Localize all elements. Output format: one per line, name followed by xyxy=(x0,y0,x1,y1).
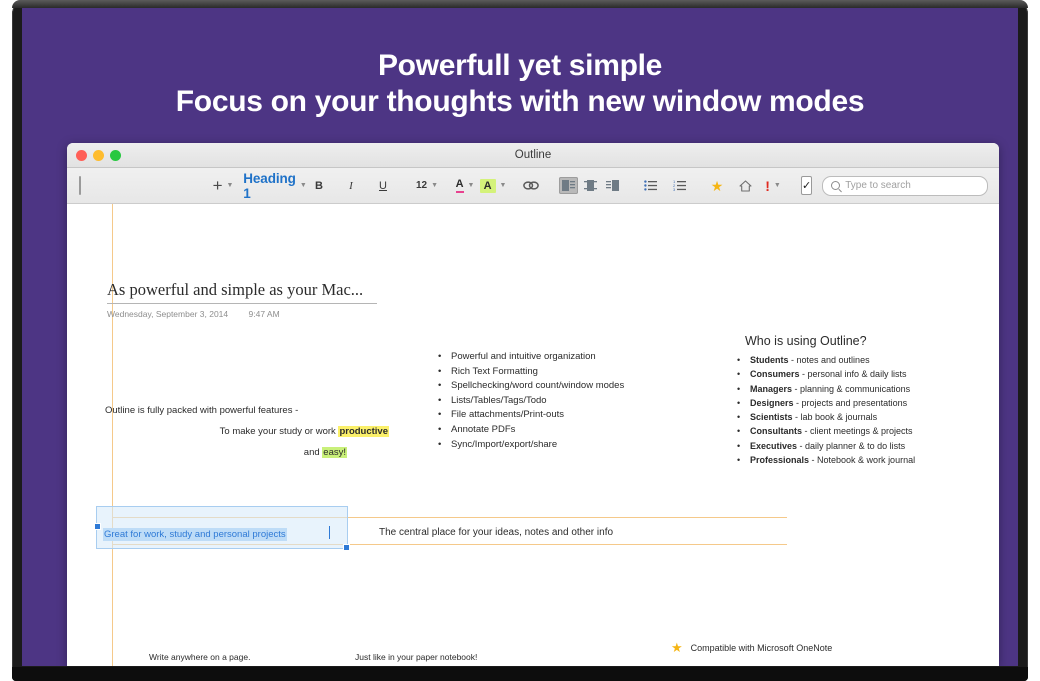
chevron-down-icon[interactable]: ▼ xyxy=(774,182,781,189)
list-item: Managers - planning & communications xyxy=(750,382,915,396)
star-icon: ★ xyxy=(671,641,683,654)
formatting-toolbar: + ▼ Heading 1 ▼ B I xyxy=(67,168,999,204)
text-color-button[interactable]: A ▼ xyxy=(455,176,475,196)
chevron-down-icon[interactable]: ▼ xyxy=(431,182,438,189)
window-title: Outline xyxy=(67,143,999,167)
document-meta: Wednesday, September 3, 2014 9:47 AM xyxy=(107,309,280,319)
laptop-frame: Powerfull yet simple Focus on your thoug… xyxy=(12,0,1028,681)
list-item: Spellchecking/word count/window modes xyxy=(451,379,624,394)
text-caret xyxy=(329,526,330,539)
home-flag-button[interactable] xyxy=(735,176,755,196)
who-is-using-list[interactable]: Students - notes and outlines Consumers … xyxy=(732,353,915,467)
window-titlebar: Outline xyxy=(67,143,999,168)
list-item: Consumers - personal info & daily lists xyxy=(750,367,915,381)
highlight-color-label: A xyxy=(480,179,496,193)
sidebar-toggle-panel xyxy=(80,177,81,194)
screenshot-root: Powerfull yet simple Focus on your thoug… xyxy=(0,0,1040,681)
who-desc: - lab book & journals xyxy=(793,412,878,422)
list-item: Executives - daily planner & to do lists xyxy=(750,439,915,453)
bold-button[interactable]: B xyxy=(309,176,329,196)
insert-link-button[interactable] xyxy=(521,176,541,196)
bold-label: B xyxy=(315,180,323,192)
numbered-list-button[interactable]: 1 2 3 xyxy=(669,176,689,196)
document-date: Wednesday, September 3, 2014 xyxy=(107,309,228,319)
font-size-label: 12 xyxy=(416,180,427,191)
who-role: Consultants xyxy=(750,426,802,436)
chevron-down-icon[interactable]: ▼ xyxy=(227,182,234,189)
who-is-using-heading: Who is using Outline? xyxy=(745,334,867,348)
intro-highlight-easy: easy! xyxy=(322,447,347,458)
todo-checkbox-button[interactable]: ✓ xyxy=(801,176,812,195)
intro-highlight-productive: productive xyxy=(338,426,389,437)
note-onenote-label: Compatible with Microsoft OneNote xyxy=(691,643,833,653)
who-desc: - client meetings & projects xyxy=(802,426,913,436)
who-role: Designers xyxy=(750,398,794,408)
list-item: Lists/Tables/Tags/Todo xyxy=(451,394,624,409)
laptop-top-edge xyxy=(12,0,1028,8)
svg-text:3: 3 xyxy=(673,187,676,191)
bullet-list-button[interactable] xyxy=(640,176,660,196)
who-desc: - Notebook & work journal xyxy=(809,455,915,465)
who-desc: - planning & communications xyxy=(792,384,910,394)
priority-flag-button[interactable]: ! ▼ xyxy=(763,176,783,196)
text-color-label: A xyxy=(456,179,464,193)
italic-label: I xyxy=(349,180,353,192)
align-left-button[interactable] xyxy=(559,177,578,194)
hero-line-1: Powerfull yet simple xyxy=(378,49,662,82)
underline-button[interactable]: U xyxy=(373,176,393,196)
note-paper-notebook: Just like in your paper notebook! xyxy=(355,652,477,662)
alignment-button-group xyxy=(559,177,622,194)
sidebar-toggle-icon[interactable] xyxy=(79,176,81,195)
who-desc: - personal info & daily lists xyxy=(800,369,907,379)
laptop-bottom-edge xyxy=(12,667,1028,681)
link-icon xyxy=(523,180,539,191)
hero-heading: Powerfull yet simple Focus on your thoug… xyxy=(22,48,1018,120)
bullet-list-icon xyxy=(644,180,657,191)
document-title[interactable]: As powerful and simple as your Mac... xyxy=(107,280,377,304)
paragraph-style-dropdown[interactable]: Heading 1 ▼ xyxy=(265,176,285,196)
align-center-icon xyxy=(584,180,597,191)
resize-handle-top-left[interactable] xyxy=(94,523,101,530)
who-role: Professionals xyxy=(750,455,809,465)
highlight-color-button[interactable]: A ▼ xyxy=(483,176,503,196)
selected-text-box-content[interactable]: Great for work, study and personal proje… xyxy=(103,528,287,541)
italic-button[interactable]: I xyxy=(341,176,361,196)
list-item: Students - notes and outlines xyxy=(750,353,915,367)
chevron-down-icon[interactable]: ▼ xyxy=(500,182,507,189)
list-item: File attachments/Print-outs xyxy=(451,408,624,423)
central-place-callout: The central place for your ideas, notes … xyxy=(379,527,613,538)
list-item: Professionals - Notebook & work journal xyxy=(750,453,915,467)
outline-app-window: Outline + ▼ Headi xyxy=(67,143,999,666)
who-role: Consumers xyxy=(750,369,800,379)
paragraph-style-label: Heading 1 xyxy=(243,171,296,201)
hero-line-2: Focus on your thoughts with new window m… xyxy=(22,84,1018,120)
intro-line-2: To make your study or work productive xyxy=(105,421,395,442)
note-write-anywhere: Write anywhere on a page. xyxy=(149,652,250,662)
list-item: Annotate PDFs xyxy=(451,423,624,438)
document-canvas[interactable]: As powerful and simple as your Mac... We… xyxy=(67,204,999,666)
list-item: Scientists - lab book & journals xyxy=(750,410,915,424)
intro-line-3: and easy! xyxy=(105,442,395,463)
who-desc: - daily planner & to do lists xyxy=(797,441,905,451)
feature-list[interactable]: Powerful and intuitive organization Rich… xyxy=(435,350,624,452)
chevron-down-icon[interactable]: ▼ xyxy=(300,182,307,189)
resize-handle-bottom-right[interactable] xyxy=(343,544,350,551)
numbered-list-icon: 1 2 3 xyxy=(673,180,686,191)
search-placeholder: Type to search xyxy=(845,180,911,191)
list-item: Consultants - client meetings & projects xyxy=(750,424,915,438)
who-desc: - notes and outlines xyxy=(789,355,870,365)
add-note-button[interactable]: + ▼ xyxy=(213,176,233,196)
home-icon xyxy=(739,180,752,192)
intro-line-1: Outline is fully packed with powerful fe… xyxy=(105,400,395,421)
search-field[interactable]: Type to search xyxy=(822,176,988,196)
intro-line-2-prefix: To make your study or work xyxy=(220,426,339,437)
search-icon xyxy=(831,181,840,190)
who-desc: - projects and presentations xyxy=(794,398,908,408)
note-onenote-compatible: ★ Compatible with Microsoft OneNote xyxy=(671,641,832,654)
list-item: Rich Text Formatting xyxy=(451,365,624,380)
list-item: Designers - projects and presentations xyxy=(750,396,915,410)
who-role: Students xyxy=(750,355,789,365)
intro-line-3-prefix: and xyxy=(304,447,323,458)
underline-label: U xyxy=(379,180,387,192)
exclamation-icon: ! xyxy=(765,179,770,193)
who-role: Managers xyxy=(750,384,792,394)
who-role: Executives xyxy=(750,441,797,451)
chevron-down-icon[interactable]: ▼ xyxy=(468,182,475,189)
intro-text-block[interactable]: Outline is fully packed with powerful fe… xyxy=(105,400,395,463)
document-time: 9:47 AM xyxy=(249,309,280,319)
plus-icon: + xyxy=(213,177,223,194)
font-size-dropdown[interactable]: 12 ▼ xyxy=(417,176,437,196)
align-right-icon xyxy=(606,180,619,191)
who-role: Scientists xyxy=(750,412,793,422)
favorite-flag-button[interactable]: ★ xyxy=(707,176,727,196)
star-icon: ★ xyxy=(711,179,724,193)
align-center-button[interactable] xyxy=(581,177,600,194)
list-item: Sync/Import/export/share xyxy=(451,438,624,453)
checkbox-checked-icon: ✓ xyxy=(802,179,811,192)
align-left-icon xyxy=(562,180,575,191)
list-item: Powerful and intuitive organization xyxy=(451,350,624,365)
align-right-button[interactable] xyxy=(603,177,622,194)
laptop-screen: Powerfull yet simple Focus on your thoug… xyxy=(22,8,1018,666)
